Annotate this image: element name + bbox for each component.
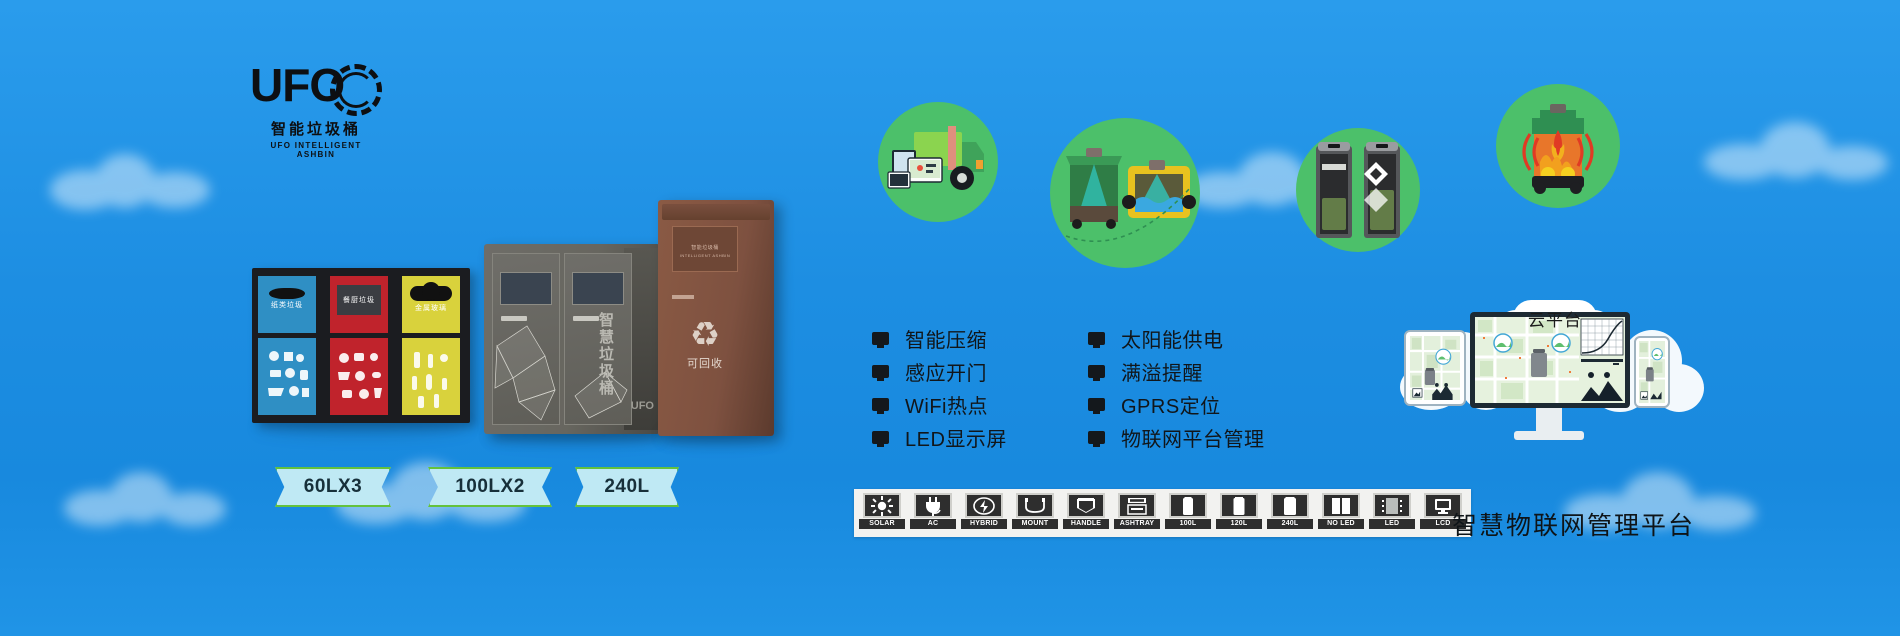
- monitor-bullet-icon: [872, 431, 889, 444]
- feature-label: 智能压缩: [905, 324, 987, 353]
- monitor-bullet-icon: [872, 332, 889, 345]
- compaction-icon: [1296, 128, 1420, 252]
- product-banner: UFO 智能垃圾桶 UFO INTELLIGENT ASHBIN 纸类垃圾: [0, 0, 1900, 636]
- option-ashtray[interactable]: ASHTRAY: [1114, 493, 1160, 533]
- capacity-ribbon-100lx2: 100LX2: [428, 467, 552, 507]
- monitor-base: [1514, 431, 1584, 440]
- bin-240l-icon: [1271, 493, 1309, 518]
- bin-display-screen: 智能垃圾桶 INTELLIGENT ASHBIN: [672, 226, 738, 272]
- monitor-bullet-icon: [1088, 431, 1105, 444]
- option-label: MOUNT: [1012, 519, 1058, 529]
- feature-label: 感应开门: [905, 357, 987, 386]
- feature-column-right: 太阳能供电 满溢提醒 GPRS定位 物联网平台管理: [1088, 322, 1265, 454]
- option-solar[interactable]: SOLAR: [859, 493, 905, 533]
- logo-chinese-name: 智能垃圾桶: [250, 118, 382, 139]
- monitor-bullet-icon: [872, 365, 889, 378]
- recycle-icon: ♻: [680, 318, 730, 352]
- option-no-led[interactable]: NO LED: [1318, 493, 1364, 533]
- option-label: NO LED: [1318, 519, 1364, 529]
- product-bin-twin: 智慧垃圾桶 UFO: [484, 244, 660, 434]
- monitor-stand: [1536, 408, 1562, 432]
- cloud-platform-label: 云平台: [1528, 306, 1582, 331]
- monitor-bullet-icon: [1088, 332, 1105, 345]
- feature-label: 满溢提醒: [1121, 357, 1203, 386]
- option-label: AC: [910, 519, 956, 529]
- recycle-label: 可回收: [680, 355, 730, 371]
- feature-label: LED显示屏: [905, 423, 1007, 452]
- bin-100l-icon: [1169, 493, 1207, 518]
- bin-brand-mark: UFO: [631, 400, 654, 412]
- kitchen-waste-pictogram: [330, 338, 388, 415]
- feature-label: GPRS定位: [1121, 390, 1221, 419]
- option-ac[interactable]: AC: [910, 493, 956, 533]
- feature-item: 物联网平台管理: [1088, 421, 1265, 454]
- bin-compartment-metal-glass: 金属玻璃: [402, 276, 460, 415]
- hybrid-power-icon: [965, 493, 1003, 518]
- fire-alarm-icon: [1496, 84, 1620, 208]
- compartment-label: 纸类垃圾: [258, 300, 316, 310]
- option-label: 120L: [1216, 519, 1262, 529]
- ufo-ring-inner-icon: [338, 72, 374, 108]
- product-bin-triple: 纸类垃圾 餐厨垃圾: [252, 268, 470, 423]
- option-label: HYBRID: [961, 519, 1007, 529]
- feature-circle-fire-alarm: [1496, 84, 1620, 208]
- feature-item: 太阳能供电: [1088, 322, 1265, 355]
- feature-item: 智能压缩: [872, 322, 1007, 355]
- ac-plug-icon: [914, 493, 952, 518]
- feature-label: WiFi热点: [905, 390, 988, 419]
- platform-title: 智慧物联网管理平台: [1452, 506, 1695, 542]
- option-mount[interactable]: MOUNT: [1012, 493, 1058, 533]
- option-hybrid[interactable]: HYBRID: [961, 493, 1007, 533]
- capacity-label: 100LX2: [455, 476, 525, 498]
- brand-logo: UFO 智能垃圾桶 UFO INTELLIGENT ASHBIN: [250, 62, 382, 154]
- bin-compartment-paper: 纸类垃圾: [258, 276, 316, 415]
- capacity-ribbon-240l: 240L: [575, 467, 679, 507]
- monitor-bullet-icon: [872, 398, 889, 411]
- paper-waste-pictogram: [258, 338, 316, 415]
- option-label: 240L: [1267, 519, 1313, 529]
- option-handle[interactable]: HANDLE: [1063, 493, 1109, 533]
- bin-side-text: 智慧垃圾桶: [600, 312, 616, 397]
- capacity-ribbon-60lx3: 60LX3: [275, 467, 391, 507]
- monitor-bullet-icon: [1088, 365, 1105, 378]
- feature-column-left: 智能压缩 感应开门 WiFi热点 LED显示屏: [872, 322, 1007, 454]
- product-bin-recycle: 智能垃圾桶 INTELLIGENT ASHBIN ♻ 可回收: [658, 200, 774, 436]
- cloud-decoration: [40, 150, 220, 210]
- bin-compartment-kitchen: 餐厨垃圾: [330, 276, 388, 415]
- option-label: LED: [1369, 519, 1415, 529]
- tablet-device: [1404, 330, 1466, 406]
- phone-map-view: [1639, 341, 1665, 403]
- option-label: 100L: [1165, 519, 1211, 529]
- ashtray-icon: [1118, 493, 1156, 518]
- compartment-label: 餐厨垃圾: [330, 295, 388, 305]
- feature-item: GPRS定位: [1088, 388, 1265, 421]
- cloud-decoration: [60, 470, 230, 526]
- polygon-pattern: [493, 316, 561, 426]
- handle-icon: [1067, 493, 1105, 518]
- fill-level-sensor-icon: [1050, 118, 1200, 268]
- metal-glass-waste-pictogram: [402, 338, 460, 415]
- option-label: SOLAR: [859, 519, 905, 529]
- option-100l[interactable]: 100L: [1165, 493, 1211, 533]
- compartment-label: 金属玻璃: [402, 303, 460, 313]
- cloud-decoration: [1700, 120, 1890, 180]
- feature-item: 满溢提醒: [1088, 355, 1265, 388]
- feature-circle-truck: [878, 102, 998, 222]
- feature-item: WiFi热点: [872, 388, 1007, 421]
- option-icon-strip: SOLAR AC HYBRID: [854, 489, 1471, 537]
- bin-screen-text-en: INTELLIGENT ASHBIN: [673, 253, 737, 258]
- option-label: HANDLE: [1063, 519, 1109, 529]
- feature-circle-compaction: [1296, 128, 1420, 252]
- capacity-label: 240L: [604, 476, 649, 498]
- option-240l[interactable]: 240L: [1267, 493, 1313, 533]
- no-led-icon: [1322, 493, 1360, 518]
- solar-panel-icon: [863, 493, 901, 518]
- monitor-bullet-icon: [1088, 398, 1105, 411]
- bin-120l-icon: [1220, 493, 1258, 518]
- logo-english-name: UFO INTELLIGENT ASHBIN: [250, 141, 382, 159]
- feature-item: LED显示屏: [872, 421, 1007, 454]
- feature-circle-fill-level: [1050, 118, 1200, 268]
- led-icon: [1373, 493, 1411, 518]
- collection-truck-icon: [878, 102, 998, 222]
- tablet-map-view: [1410, 336, 1460, 400]
- option-led[interactable]: LED: [1369, 493, 1415, 533]
- capacity-label: 60LX3: [304, 476, 362, 498]
- option-120l[interactable]: 120L: [1216, 493, 1262, 533]
- option-label: ASHTRAY: [1114, 519, 1160, 529]
- bin-screen-text: 智能垃圾桶: [673, 244, 737, 251]
- wall-mount-icon: [1016, 493, 1054, 518]
- feature-label: 太阳能供电: [1121, 324, 1224, 353]
- smartphone-device: [1634, 336, 1670, 408]
- feature-item: 感应开门: [872, 355, 1007, 388]
- feature-label: 物联网平台管理: [1121, 423, 1265, 452]
